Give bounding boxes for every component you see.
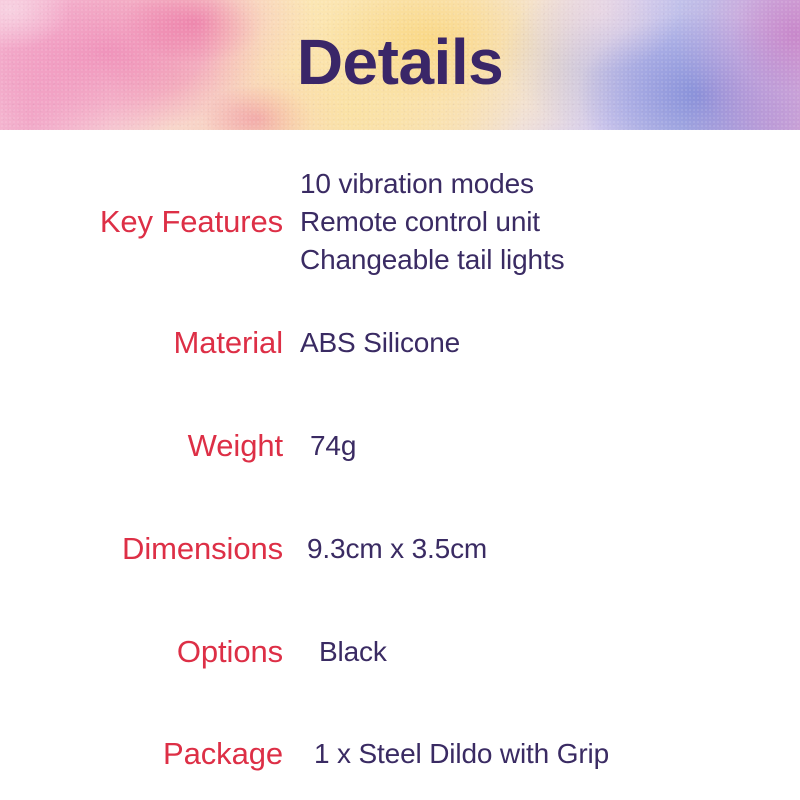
spec-value-options: Black [283,633,800,671]
spec-value-line: 74g [310,427,800,465]
spec-label-material: Material [0,326,283,361]
spec-label-package: Package [0,737,283,772]
page-header-banner: Details [0,0,800,130]
spec-value-weight: 74g [283,427,800,465]
product-spec-table: Key Features 10 vibration modes Remote c… [0,130,800,800]
spec-label-weight: Weight [0,429,283,464]
spec-value-package: 1 x Steel Dildo with Grip [283,735,800,773]
spec-label-options: Options [0,635,283,670]
spec-value-dimensions: 9.3cm x 3.5cm [283,530,800,568]
page-title: Details [0,0,800,130]
spec-value-line: 10 vibration modes [300,165,800,203]
spec-value-key-features: 10 vibration modes Remote control unit C… [283,165,800,279]
spec-value-line: Remote control unit [300,203,800,241]
spec-value-line: Black [319,633,800,671]
spec-value-line: ABS Silicone [300,324,800,362]
table-row: Key Features 10 vibration modes Remote c… [0,152,800,292]
spec-value-line: 1 x Steel Dildo with Grip [314,735,800,773]
table-row: Options Black [0,601,800,704]
table-row: Dimensions 9.3cm x 3.5cm [0,498,800,601]
details-page: Details Key Features 10 vibration modes … [0,0,800,800]
table-row: Package 1 x Steel Dildo with Grip [0,704,800,800]
table-row: Material ABS Silicone [0,292,800,395]
spec-value-line: Changeable tail lights [300,241,800,279]
spec-value-material: ABS Silicone [283,324,800,362]
table-row: Weight 74g [0,395,800,498]
spec-value-line: 9.3cm x 3.5cm [307,530,800,568]
spec-label-dimensions: Dimensions [0,532,283,567]
spec-label-key-features: Key Features [0,205,283,240]
